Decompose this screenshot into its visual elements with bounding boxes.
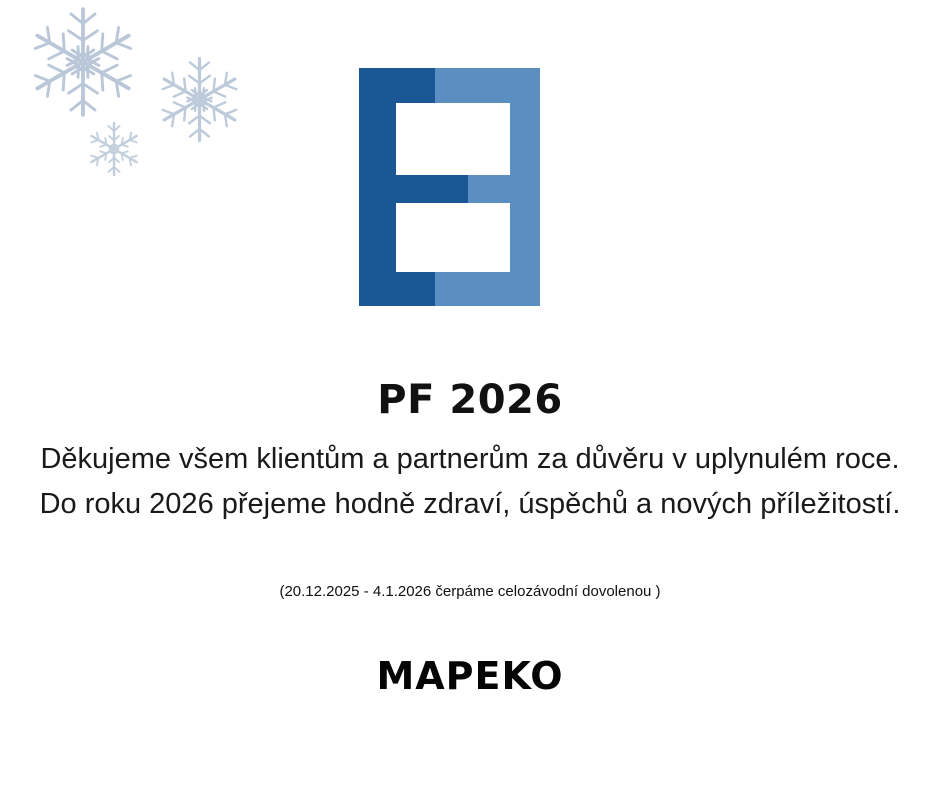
- message-block: PF 2026 Děkujeme všem klientům a partner…: [0, 374, 940, 701]
- greeting-card: PF 2026 Děkujeme všem klientům a partner…: [0, 0, 940, 788]
- greeting-text: Děkujeme všem klientům a partnerům za dů…: [0, 437, 940, 527]
- greeting-line-1: Děkujeme všem klientům a partnerům za dů…: [0, 437, 940, 482]
- snowflake-medium-icon: [152, 52, 247, 147]
- greeting-line-2: Do roku 2026 přejeme hodně zdraví, úspěc…: [0, 482, 940, 527]
- snowflake-small-icon: [83, 118, 145, 180]
- holiday-closure-note: (20.12.2025 - 4.1.2026 čerpáme celozávod…: [0, 581, 940, 603]
- snowflake-large-icon: [23, 2, 143, 122]
- snowflake-cluster: [0, 0, 280, 200]
- page-title: PF 2026: [0, 374, 940, 426]
- company-name: MAPEKO: [0, 651, 940, 701]
- mapeko-logo-icon: [359, 68, 540, 306]
